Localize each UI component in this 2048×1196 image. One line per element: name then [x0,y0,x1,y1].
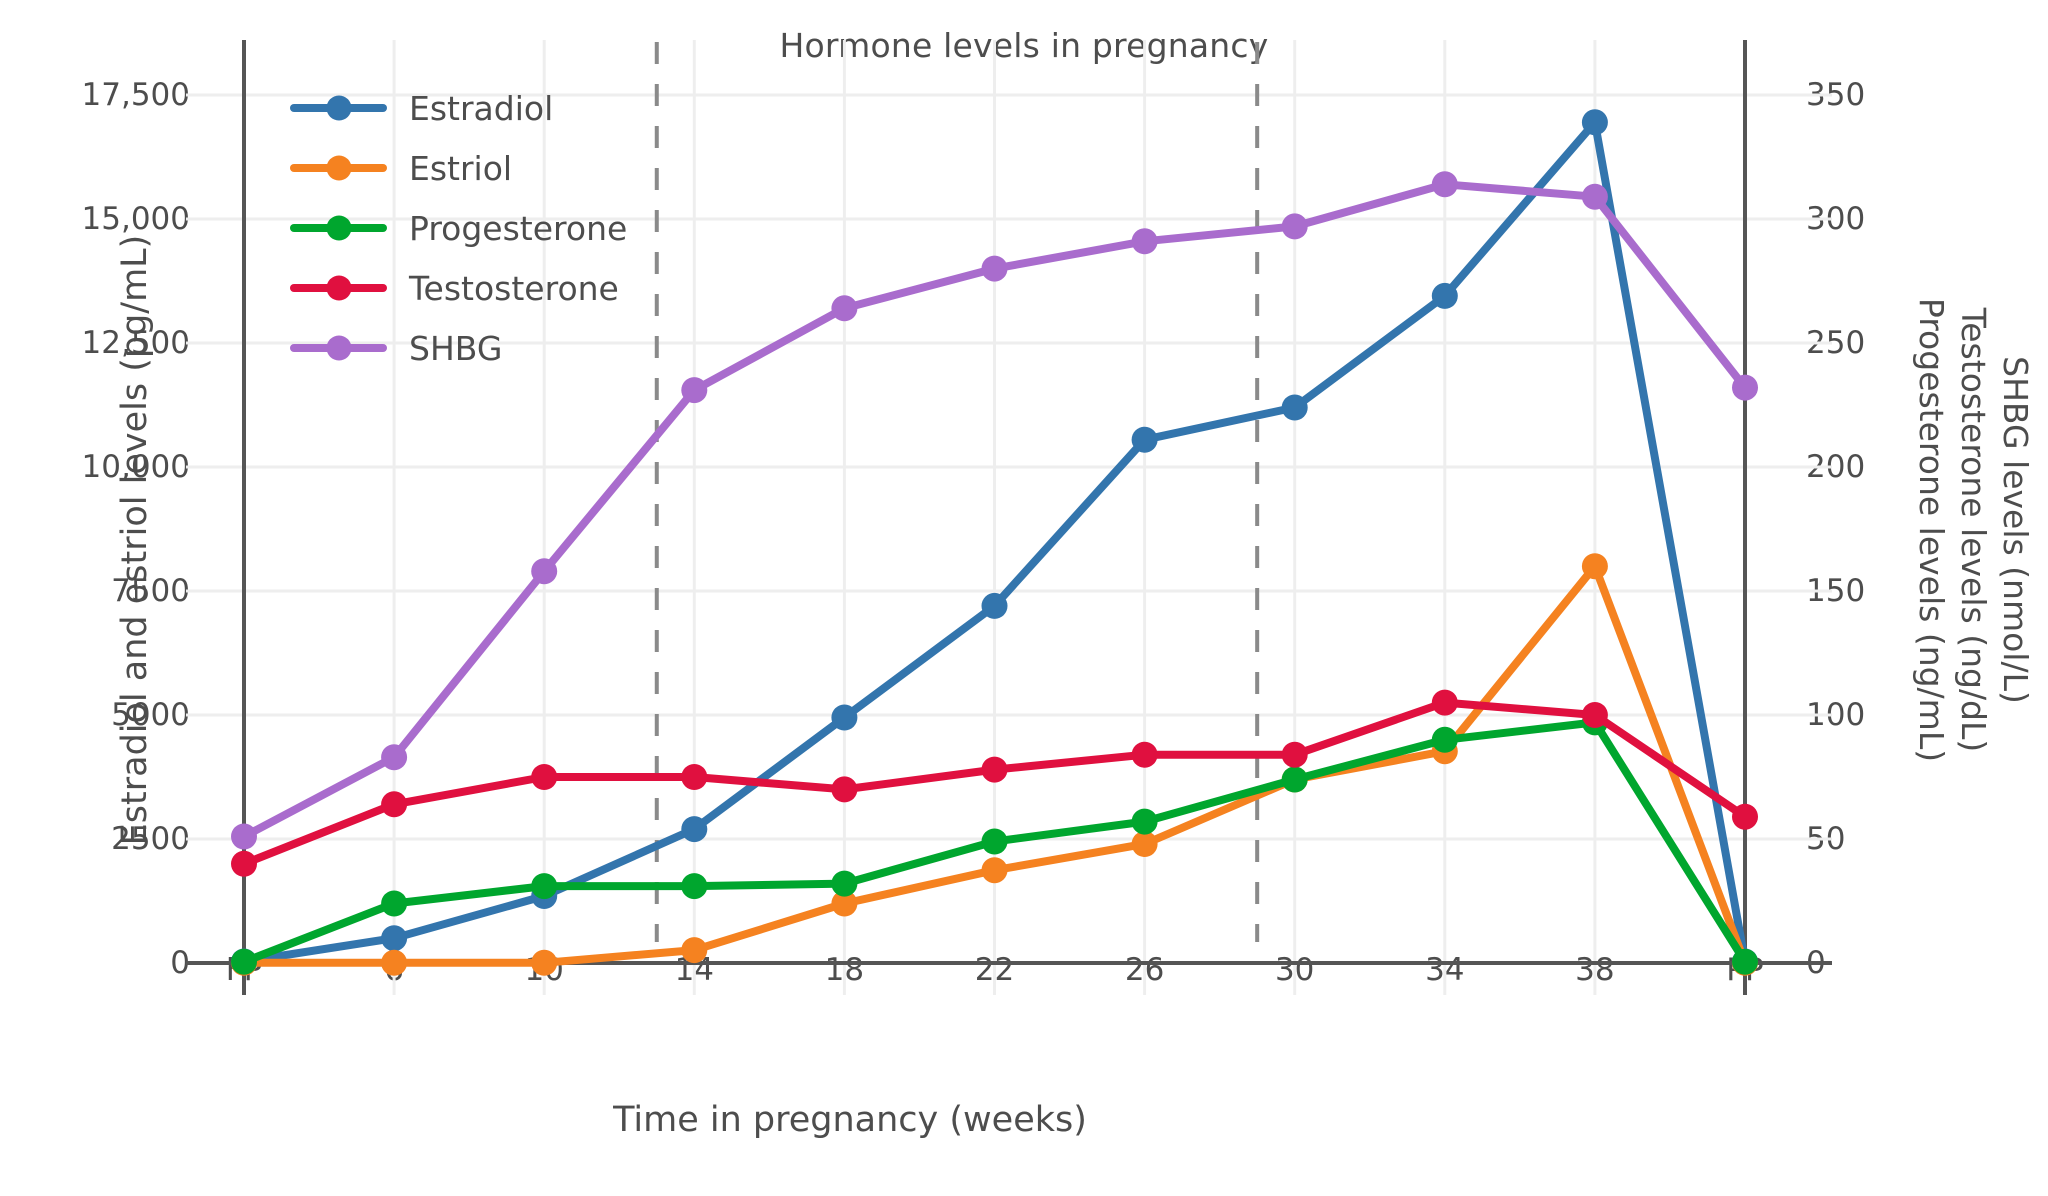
legend-marker-icon [326,276,351,301]
y-tick-right: 0 [1806,945,1946,981]
x-tick: 10 [484,952,604,988]
chart-root: Hormone levels in pregnancy Time in preg… [0,0,2048,1196]
x-tick: 14 [634,952,754,988]
y-tick-left: 10,000 [10,449,190,485]
legend-item-estriol[interactable]: Estriol [290,138,627,198]
legend-swatch-icon [290,224,387,232]
y-tick-right: 300 [1806,201,1946,237]
x-tick: 38 [1535,952,1655,988]
x-tick: 34 [1385,952,1505,988]
series-estriol [231,553,1758,976]
y-tick-left: 7500 [10,573,190,609]
y-axis-right-title-shbg: SHBG levels (nmol/L) [1989,40,2035,1020]
y-tick-right: 200 [1806,449,1946,485]
y-axis-right-title-testosterone: Testosterone levels (ng/dL) [1947,40,1993,1020]
y-tick-left: 2500 [10,821,190,857]
legend-marker-icon [326,96,351,121]
y-tick-left: 0 [10,945,190,981]
legend-item-testosterone[interactable]: Testosterone [290,258,627,318]
legend-item-estradiol[interactable]: Estradiol [290,78,627,138]
legend-marker-icon [326,156,351,181]
legend-label: Progesterone [409,209,627,248]
legend-item-shbg[interactable]: SHBG [290,318,627,378]
x-tick: 6 [334,952,454,988]
chart-legend: EstradiolEstriolProgesteroneTestosterone… [290,78,627,378]
y-tick-right: 150 [1806,573,1946,609]
legend-swatch-icon [290,344,387,352]
x-axis-title: Time in pregnancy (weeks) [0,1100,1700,1140]
x-tick: 18 [784,952,904,988]
y-tick-left: 5000 [10,697,190,733]
chart-title: Hormone levels in pregnancy [0,26,2048,65]
y-tick-left: 12,500 [10,325,190,361]
y-axis-right-titles: Progesterone levels (ng/mL) Testosterone… [1905,40,2035,1020]
legend-marker-icon [326,336,351,361]
legend-label: Estradiol [409,89,553,128]
y-tick-right: 350 [1806,77,1946,113]
series-testosterone [231,690,1758,877]
legend-marker-icon [326,216,351,241]
x-tick: PP [1685,952,1805,988]
legend-label: Testosterone [409,269,619,308]
legend-label: Estriol [409,149,512,188]
y-tick-right: 100 [1806,697,1946,733]
y-tick-right: 50 [1806,821,1946,857]
y-tick-left: 15,000 [10,201,190,237]
x-tick: 22 [935,952,1055,988]
legend-label: SHBG [409,329,502,368]
x-tick: FP [184,952,304,988]
legend-swatch-icon [290,104,387,112]
y-axis-right-title-progesterone: Progesterone levels (ng/mL) [1905,40,1951,1020]
series-progesterone [231,709,1758,974]
legend-swatch-icon [290,164,387,172]
x-tick: 26 [1085,952,1205,988]
x-tick: 30 [1235,952,1355,988]
y-tick-left: 17,500 [10,77,190,113]
legend-swatch-icon [290,284,387,292]
y-tick-right: 250 [1806,325,1946,361]
legend-item-progesterone[interactable]: Progesterone [290,198,627,258]
